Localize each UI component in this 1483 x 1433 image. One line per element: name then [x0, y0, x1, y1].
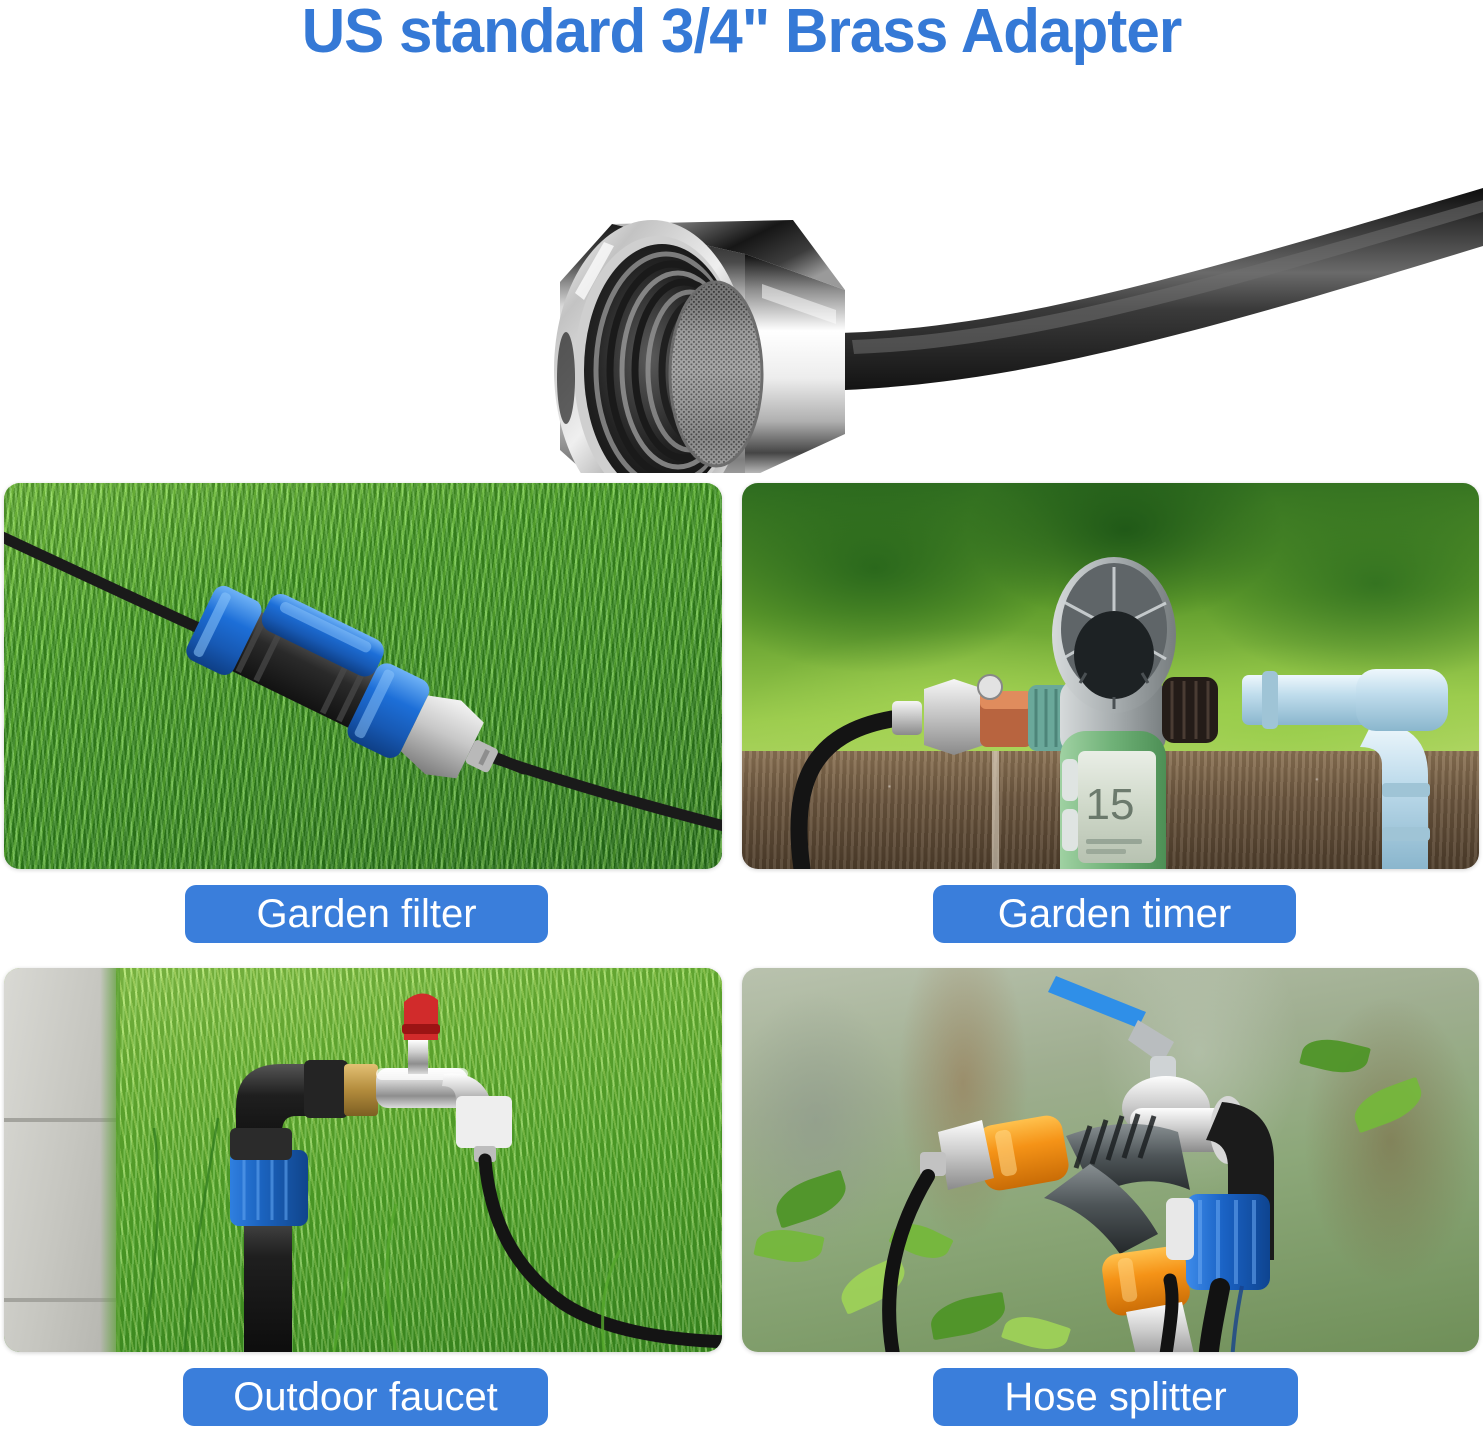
hero-product-image: [0, 78, 1483, 473]
badge-hose-splitter[interactable]: Hose splitter: [933, 1368, 1298, 1426]
garden-timer-photo: 15: [742, 483, 1479, 869]
panel-garden-filter[interactable]: [4, 483, 722, 869]
page-title: US standard 3/4" Brass Adapter: [22, 0, 1461, 67]
garden-filter-photo: [4, 483, 722, 869]
blue-ball-valve-lever: [1048, 976, 1146, 1028]
product-infographic: US standard 3/4" Brass Adapter: [0, 0, 1483, 1433]
brass-hex-adapter-illustration: [0, 78, 1483, 473]
svg-text:15: 15: [1086, 780, 1135, 829]
badge-garden-filter[interactable]: Garden filter: [185, 885, 548, 943]
badge-garden-timer[interactable]: Garden timer: [933, 885, 1296, 943]
blue-compression-fitting: [230, 1150, 308, 1226]
panel-garden-timer[interactable]: 15: [742, 483, 1479, 869]
hose-body: [840, 188, 1483, 390]
hose-splitter-photo: [742, 968, 1479, 1352]
badge-outdoor-faucet[interactable]: Outdoor faucet: [183, 1368, 548, 1426]
panel-outdoor-faucet[interactable]: [4, 968, 722, 1352]
panel-hose-splitter[interactable]: [742, 968, 1479, 1352]
outdoor-faucet-photo: [4, 968, 722, 1352]
